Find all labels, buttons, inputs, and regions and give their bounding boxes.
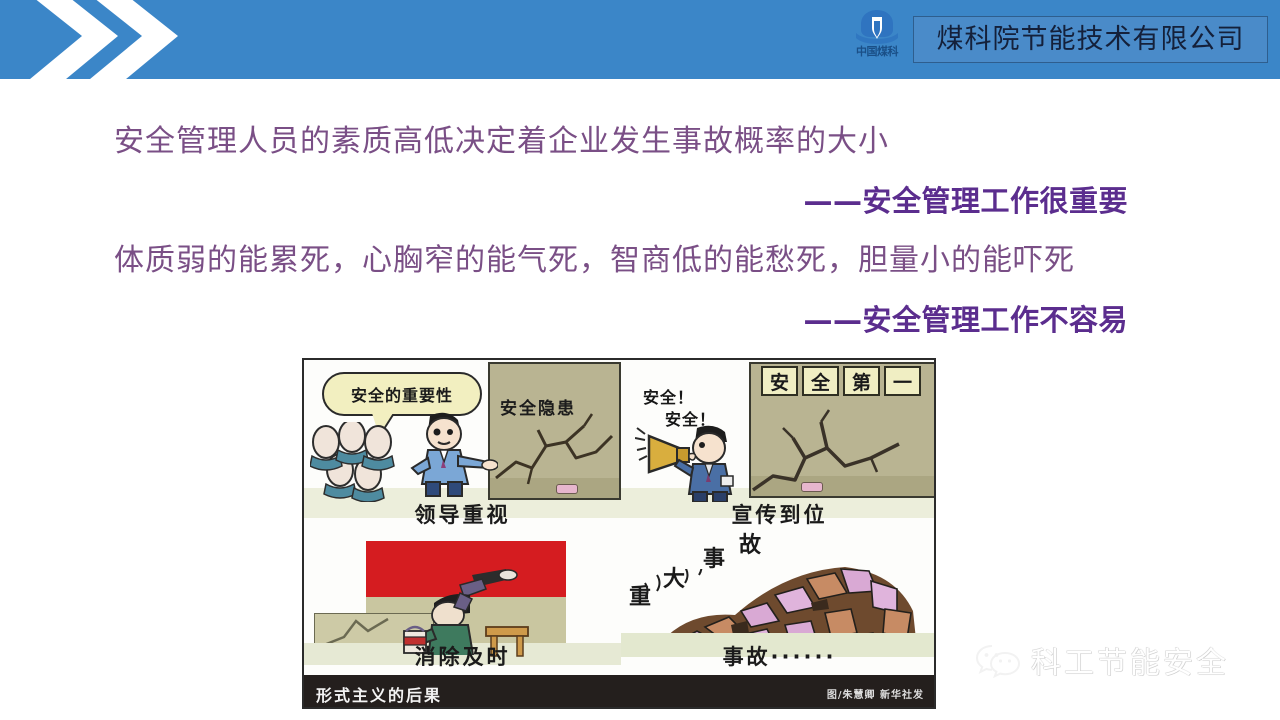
panel-caption-bottom-left: 消除及时 bbox=[304, 641, 621, 671]
brand-logo: 中国煤科 bbox=[846, 6, 908, 72]
shout-text-1: 安全！ bbox=[643, 384, 694, 408]
crowd-heads-icon bbox=[310, 422, 410, 502]
sign-char-2: 第 bbox=[843, 366, 880, 396]
company-name-text: 煤科院节能技术有限公司 bbox=[937, 25, 1245, 55]
coal-science-emblem-icon bbox=[854, 8, 900, 48]
statement-line-1: 安全管理人员的素质高低决定着企业发生事故概率的大小 bbox=[114, 122, 889, 162]
double-chevron-right-icon bbox=[0, 0, 230, 79]
wall-crack-icon-2 bbox=[749, 404, 936, 494]
cartoon-panel-top-left: 安全隐患 安全的重要性 bbox=[304, 360, 621, 535]
slide-root: 中国煤科 煤科院节能技术有限公司 安全管理人员的素质高低决定着企业发生事故概率的… bbox=[0, 0, 1280, 720]
wechat-icon bbox=[975, 642, 1021, 678]
watermark-text: 科工节能安全 bbox=[1031, 638, 1229, 682]
statement-line-2: 体质弱的能累死，心胸窄的能气死，智商低的能愁死，胆量小的能吓死 bbox=[114, 241, 1075, 281]
panel-caption-top-right: 宣传到位 bbox=[621, 499, 936, 529]
megaphone-figure-icon bbox=[635, 422, 755, 502]
wall-crack-icon bbox=[488, 406, 621, 492]
brand-logo-caption: 中国煤科 bbox=[846, 46, 908, 58]
cartoon-footer-strip: 形式主义的后果 图/朱慧卿 新华社发 bbox=[304, 675, 936, 707]
cartoon-panel-bottom-right: 重 大 事 故 bbox=[621, 535, 936, 675]
cartoon-panel-bottom-left: 消除及时 bbox=[304, 535, 621, 675]
attribution-line-1: ——安全管理工作很重要 bbox=[803, 182, 1128, 220]
sign-char-0: 安 bbox=[761, 366, 798, 396]
manager-figure-icon bbox=[400, 408, 498, 500]
safety-first-sign: 安 全 第 一 bbox=[761, 366, 921, 396]
sign-char-1: 全 bbox=[802, 366, 839, 396]
sign-char-3: 一 bbox=[884, 366, 921, 396]
cartoon-illustration: 安全隐患 安全的重要性 bbox=[302, 358, 936, 709]
cartoon-credit: 图/朱慧卿 新华社发 bbox=[827, 686, 924, 701]
cartoon-panel-top-right: 安 全 第 一 安全！ 安全！ bbox=[621, 360, 936, 535]
strip-title: 形式主义的后果 bbox=[316, 682, 442, 706]
header-banner: 中国煤科 煤科院节能技术有限公司 bbox=[0, 0, 1280, 79]
company-name-box: 煤科院节能技术有限公司 bbox=[913, 16, 1268, 63]
panel-caption-top-left: 领导重视 bbox=[304, 499, 621, 529]
wechat-watermark: 科工节能安全 bbox=[975, 636, 1255, 684]
panel-caption-bottom-right: 事故······ bbox=[621, 641, 936, 671]
speech-bubble-text: 安全的重要性 bbox=[351, 382, 453, 406]
attribution-line-2: ——安全管理工作不容易 bbox=[803, 301, 1128, 339]
